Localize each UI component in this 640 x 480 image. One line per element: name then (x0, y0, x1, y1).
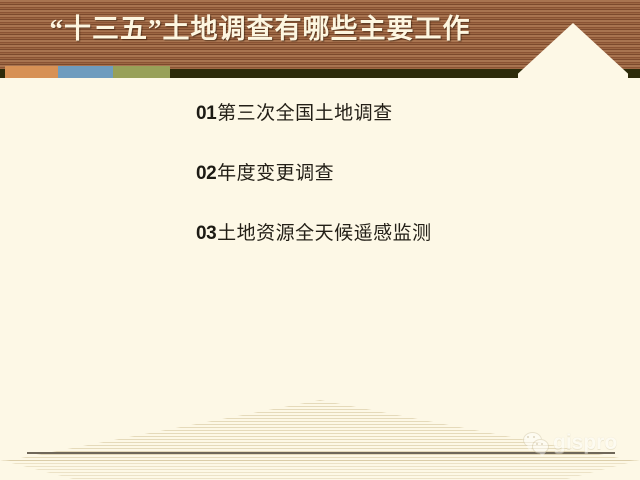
color-chip-orange (5, 66, 58, 78)
list-item-label: 土地资源全天候遥感监测 (217, 218, 432, 245)
wechat-eye-dot (527, 436, 529, 438)
watermark: gispro (523, 431, 617, 455)
mountain-stripe-base (0, 460, 640, 480)
list-item-label: 年度变更调查 (217, 158, 334, 185)
watermark-label: gispro (553, 431, 617, 455)
wechat-eye-dot (541, 443, 543, 445)
slide-canvas: “十三五”土地调查有哪些主要工作 01 第三次全国土地调查 02 年度变更调查 … (0, 0, 640, 480)
list-item: 01 第三次全国土地调查 (196, 98, 616, 125)
list-item-number: 03 (196, 223, 216, 245)
page-title: “十三五”土地调查有哪些主要工作 (0, 12, 520, 46)
wechat-eye-dot (533, 436, 535, 438)
color-chip-olive (113, 66, 170, 78)
color-chip-blue (58, 66, 113, 78)
list-item: 02 年度变更调查 (196, 158, 616, 185)
wechat-icon (523, 432, 549, 454)
list-item-label: 第三次全国土地调查 (217, 98, 393, 125)
list-item-number: 01 (196, 103, 216, 125)
slide-header: “十三五”土地调查有哪些主要工作 (0, 0, 640, 78)
wechat-bubble-front (532, 439, 549, 454)
list-item-number: 02 (196, 163, 216, 185)
header-color-chips (5, 66, 170, 78)
list-item: 03 土地资源全天候遥感监测 (196, 218, 616, 245)
wechat-eye-dot (536, 443, 538, 445)
content-list: 01 第三次全国土地调查 02 年度变更调查 03 土地资源全天候遥感监测 (196, 98, 616, 278)
